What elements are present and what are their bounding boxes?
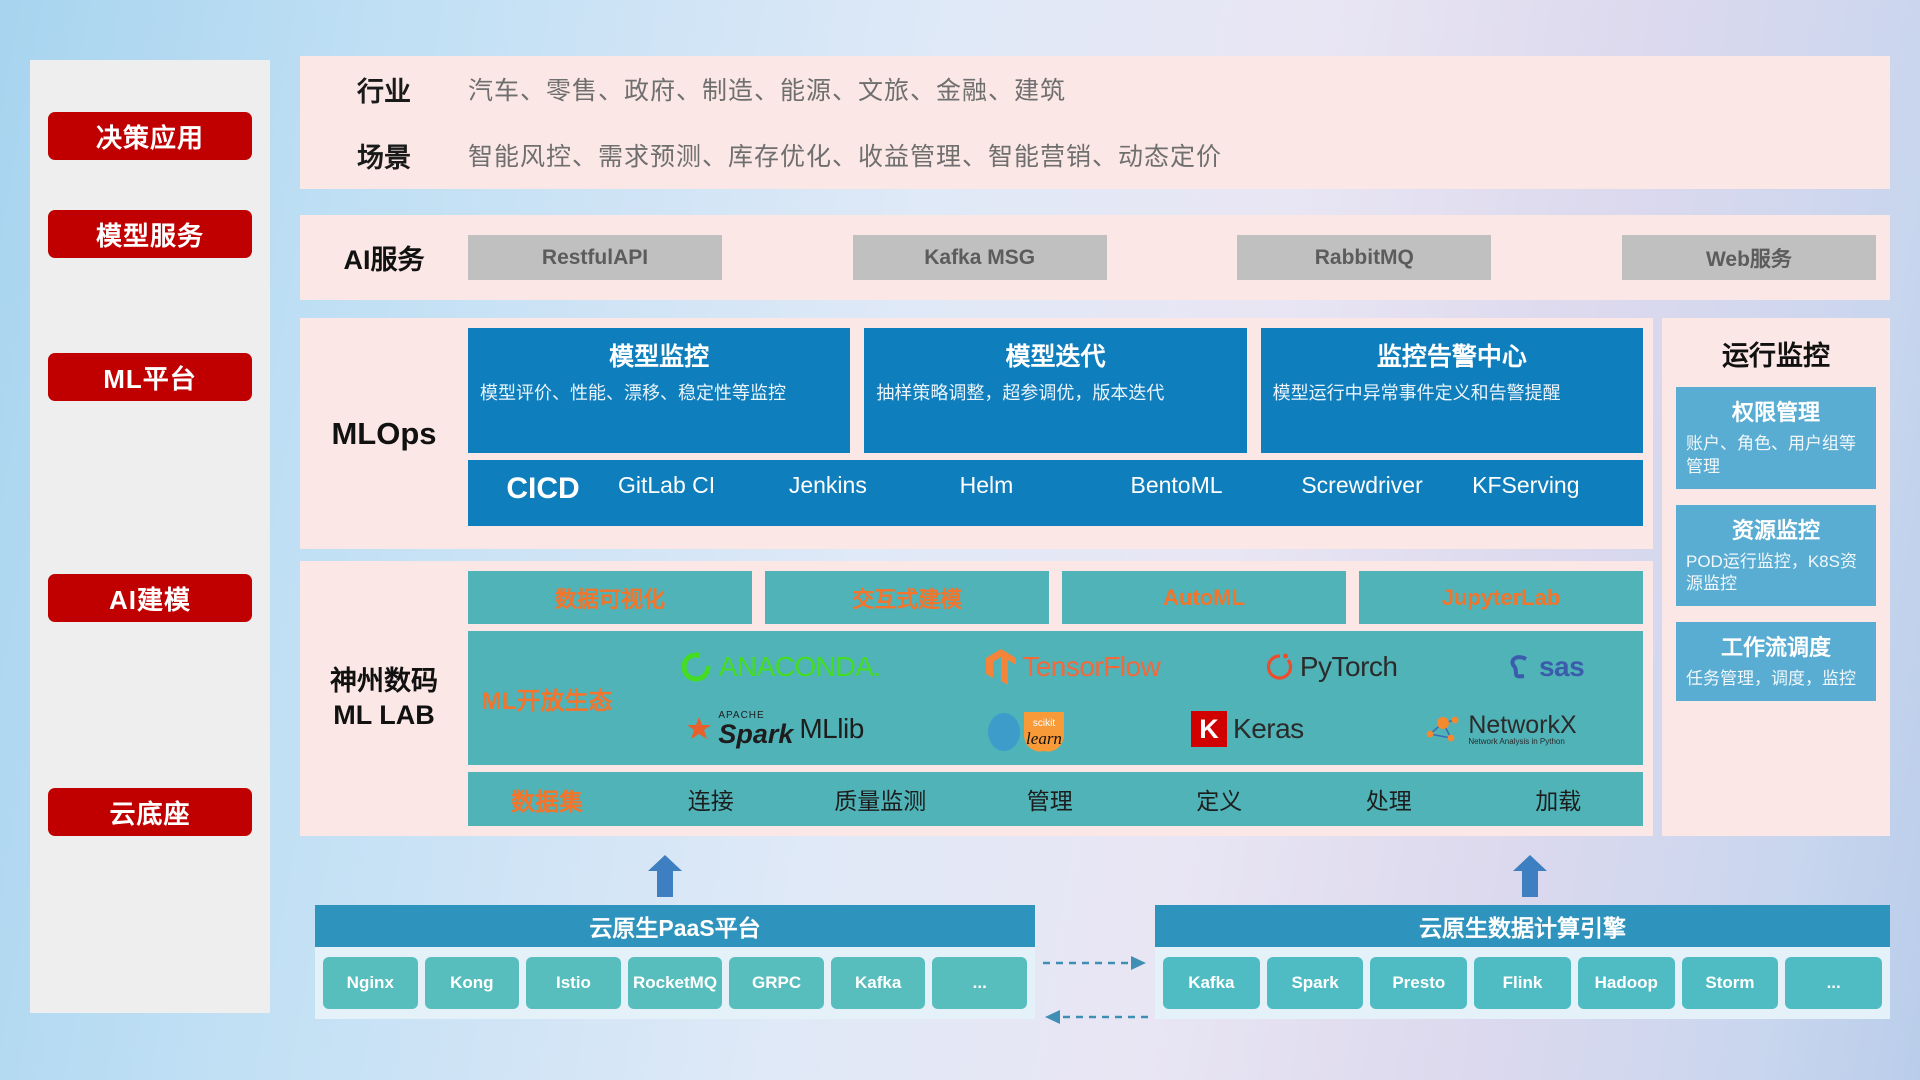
cloud-native-compute-engine-column: 云原生数据计算引擎 Kafka Spark Presto Flink Hadoo… [1155,905,1890,1019]
ml-lab-tab-group: 数据可视化 交互式建模 AutoML JupyterLab [468,571,1643,624]
paas-chip-grpc[interactable]: GRPC [729,957,824,1009]
networkx-subtitle: Network Analysis in Python [1468,738,1576,746]
cicd-item-bentoml[interactable]: BentoML [1130,472,1301,499]
mlops-label: MLOps [300,318,468,549]
mlops-band: MLOps 模型监控 模型评价、性能、漂移、稳定性等监控 模型迭代 抽样策略调整… [300,318,1653,549]
monitor-card-resource[interactable]: 资源监控 POD运行监控，K8S资源监控 [1676,505,1876,607]
ai-service-band: AI服务 RestfulAPI Kafka MSG RabbitMQ Web服务 [300,215,1890,300]
pytorch-logo-text: PyTorch [1300,651,1398,683]
ml-lab-label-line1: 神州数码 [330,665,438,699]
card-desc: 账户、角色、用户组等管理 [1686,433,1866,479]
spark-mllib-logo: APACHE Spark MLlib [686,711,863,748]
engine-chip-kafka[interactable]: Kafka [1163,957,1260,1009]
tensorflow-icon [986,649,1016,685]
ml-lab-band: 神州数码 ML LAB 数据可视化 交互式建模 AutoML JupyterLa… [300,561,1653,836]
mlops-card-group: 模型监控 模型评价、性能、漂移、稳定性等监控 模型迭代 抽样策略调整，超参调优，… [468,328,1643,453]
dataset-item-process[interactable]: 处理 [1304,782,1474,816]
keras-logo: K Keras [1191,711,1304,747]
scenario-row: 场景 智能风控、需求预测、库存优化、收益管理、智能营销、动态定价 [300,122,1890,188]
keras-mark: K [1191,711,1227,747]
dataset-item-define[interactable]: 定义 [1135,782,1305,816]
cicd-item-jenkins[interactable]: Jenkins [789,472,960,499]
ai-chip-rabbitmq[interactable]: RabbitMQ [1237,235,1491,280]
rail-label: 模型服务 [96,216,204,253]
tab-data-visualization[interactable]: 数据可视化 [468,571,752,624]
decision-apps-band: 行业 汽车、零售、政府、制造、能源、文旅、金融、建筑 场景 智能风控、需求预测、… [300,56,1890,189]
paas-up-arrow [648,855,682,897]
industry-label: 行业 [300,70,468,109]
mlops-card-model-iteration[interactable]: 模型迭代 抽样策略调整，超参调优，版本迭代 [864,328,1246,453]
card-desc: 任务管理，调度，监控 [1686,668,1866,691]
engine-chip-presto[interactable]: Presto [1370,957,1467,1009]
mlops-card-model-monitoring[interactable]: 模型监控 模型评价、性能、漂移、稳定性等监控 [468,328,850,453]
svg-text:scikit: scikit [1033,718,1055,729]
rail-item-ai-modeling[interactable]: AI建模 [48,574,252,622]
paas-chip-istio[interactable]: Istio [526,957,621,1009]
mllib-text: MLlib [799,713,863,745]
eco-label: ML开放生态 [468,681,626,716]
left-rail: 决策应用 模型服务 ML平台 AI建模 云底座 [30,60,270,1013]
cicd-item-gitlab-ci[interactable]: GitLab CI [618,472,789,499]
paas-chip-kong[interactable]: Kong [425,957,520,1009]
tab-jupyterlab[interactable]: JupyterLab [1359,571,1643,624]
engine-up-arrow [1513,855,1547,897]
keras-logo-text: Keras [1233,713,1304,745]
cicd-title: CICD [468,472,618,506]
monitor-card-permission[interactable]: 权限管理 账户、角色、用户组等管理 [1676,387,1876,489]
ml-lab-label: 神州数码 ML LAB [300,561,468,836]
card-desc: 抽样策略调整，超参调优，版本迭代 [876,382,1234,406]
scenario-label: 场景 [300,136,468,175]
paas-title: 云原生PaaS平台 [315,905,1035,947]
sas-logo: sas [1503,651,1584,683]
sas-icon [1503,652,1533,682]
engine-chip-flink[interactable]: Flink [1474,957,1571,1009]
engine-chip-storm[interactable]: Storm [1682,957,1779,1009]
scikit-learn-logo: scikit learn [984,706,1070,752]
tensorflow-logo-text: TensorFlow [1022,651,1160,683]
dataset-item-load[interactable]: 加载 [1474,782,1644,816]
dataset-item-connect[interactable]: 连接 [626,782,796,816]
cicd-item-kfserving[interactable]: KFServing [1472,472,1643,499]
spark-star-icon [686,716,712,742]
runtime-monitoring-title: 运行监控 [1676,334,1876,373]
engine-chip-group: Kafka Spark Presto Flink Hadoop Storm ..… [1155,947,1890,1019]
eco-logo-row-1: ANACONDA. TensorFlow [626,637,1637,697]
ai-service-chip-group: RestfulAPI Kafka MSG RabbitMQ Web服务 [468,235,1890,280]
monitor-card-workflow[interactable]: 工作流调度 任务管理，调度，监控 [1676,622,1876,701]
cicd-bar: CICD GitLab CI Jenkins Helm BentoML Scre… [468,460,1643,526]
runtime-monitoring-panel: 运行监控 权限管理 账户、角色、用户组等管理 资源监控 POD运行监控，K8S资… [1662,318,1890,836]
rail-label: ML平台 [103,359,197,396]
cicd-item-helm[interactable]: Helm [960,472,1131,499]
cicd-item-screwdriver[interactable]: Screwdriver [1301,472,1472,499]
spark-name-text: Spark [718,721,793,748]
networkx-wordmark: NetworkX Network Analysis in Python [1468,712,1576,747]
tab-automl[interactable]: AutoML [1062,571,1346,624]
ai-chip-restfulapi[interactable]: RestfulAPI [468,235,722,280]
pytorch-icon [1266,650,1294,684]
card-title: 工作流调度 [1686,630,1866,662]
mlops-card-alert-center[interactable]: 监控告警中心 模型运行中异常事件定义和告警提醒 [1261,328,1643,453]
rail-label: AI建模 [109,580,191,617]
card-desc: 模型运行中异常事件定义和告警提醒 [1273,382,1631,406]
card-title: 模型监控 [480,337,838,373]
networkx-icon [1424,712,1462,746]
rail-label: 云底座 [109,794,190,831]
dataset-item-quality[interactable]: 质量监测 [796,782,966,816]
scenario-text: 智能风控、需求预测、库存优化、收益管理、智能营销、动态定价 [468,137,1222,173]
industry-row: 行业 汽车、零售、政府、制造、能源、文旅、金融、建筑 [300,56,1890,122]
cloud-native-paas-column: 云原生PaaS平台 Nginx Kong Istio RocketMQ GRPC… [315,905,1035,1019]
rail-item-ml-platform[interactable]: ML平台 [48,353,252,401]
dataset-item-manage[interactable]: 管理 [965,782,1135,816]
bidirectional-flow-arrows [1043,935,1148,1045]
ai-service-label: AI服务 [300,238,468,277]
engine-chip-hadoop[interactable]: Hadoop [1578,957,1675,1009]
engine-title: 云原生数据计算引擎 [1155,905,1890,947]
anaconda-logo-text: ANACONDA. [719,651,881,683]
industry-text: 汽车、零售、政府、制造、能源、文旅、金融、建筑 [468,71,1066,107]
rail-item-model-service[interactable]: 模型服务 [48,210,252,258]
card-desc: 模型评价、性能、漂移、稳定性等监控 [480,382,838,406]
paas-chip-more[interactable]: ... [932,957,1027,1009]
card-title: 权限管理 [1686,395,1866,427]
rail-item-decision-apps[interactable]: 决策应用 [48,112,252,160]
ml-open-ecosystem: ML开放生态 ANACONDA. [468,631,1643,765]
svg-text:learn: learn [1026,729,1062,748]
ai-chip-kafka-msg[interactable]: Kafka MSG [853,235,1107,280]
paas-chip-nginx[interactable]: Nginx [323,957,418,1009]
card-title: 资源监控 [1686,513,1866,545]
card-title: 监控告警中心 [1273,337,1631,373]
ai-chip-web-service[interactable]: Web服务 [1622,235,1876,280]
rail-item-cloud-base[interactable]: 云底座 [48,788,252,836]
dataset-bar: 数据集 连接 质量监测 管理 定义 处理 加载 [468,772,1643,826]
anaconda-logo: ANACONDA. [679,650,881,684]
eco-logo-row-2: APACHE Spark MLlib scikit [626,699,1637,759]
dataset-label: 数据集 [468,782,626,817]
engine-chip-spark[interactable]: Spark [1267,957,1364,1009]
networkx-logo-text: NetworkX [1468,712,1576,738]
scikit-learn-icon: scikit learn [984,706,1070,752]
rail-label: 决策应用 [96,118,204,155]
spark-wordmark: APACHE Spark [718,711,793,748]
paas-chip-kafka[interactable]: Kafka [831,957,926,1009]
engine-chip-more[interactable]: ... [1785,957,1882,1009]
networkx-logo: NetworkX Network Analysis in Python [1424,712,1576,747]
tensorflow-logo: TensorFlow [986,649,1160,685]
sas-logo-text: sas [1539,651,1584,683]
card-title: 模型迭代 [876,337,1234,373]
tab-interactive-modeling[interactable]: 交互式建模 [765,571,1049,624]
anaconda-icon [679,650,713,684]
paas-chip-group: Nginx Kong Istio RocketMQ GRPC Kafka ... [315,947,1035,1019]
card-desc: POD运行监控，K8S资源监控 [1686,551,1866,597]
pytorch-logo: PyTorch [1266,650,1398,684]
paas-chip-rocketmq[interactable]: RocketMQ [628,957,723,1009]
ml-lab-label-line2: ML LAB [333,699,435,733]
